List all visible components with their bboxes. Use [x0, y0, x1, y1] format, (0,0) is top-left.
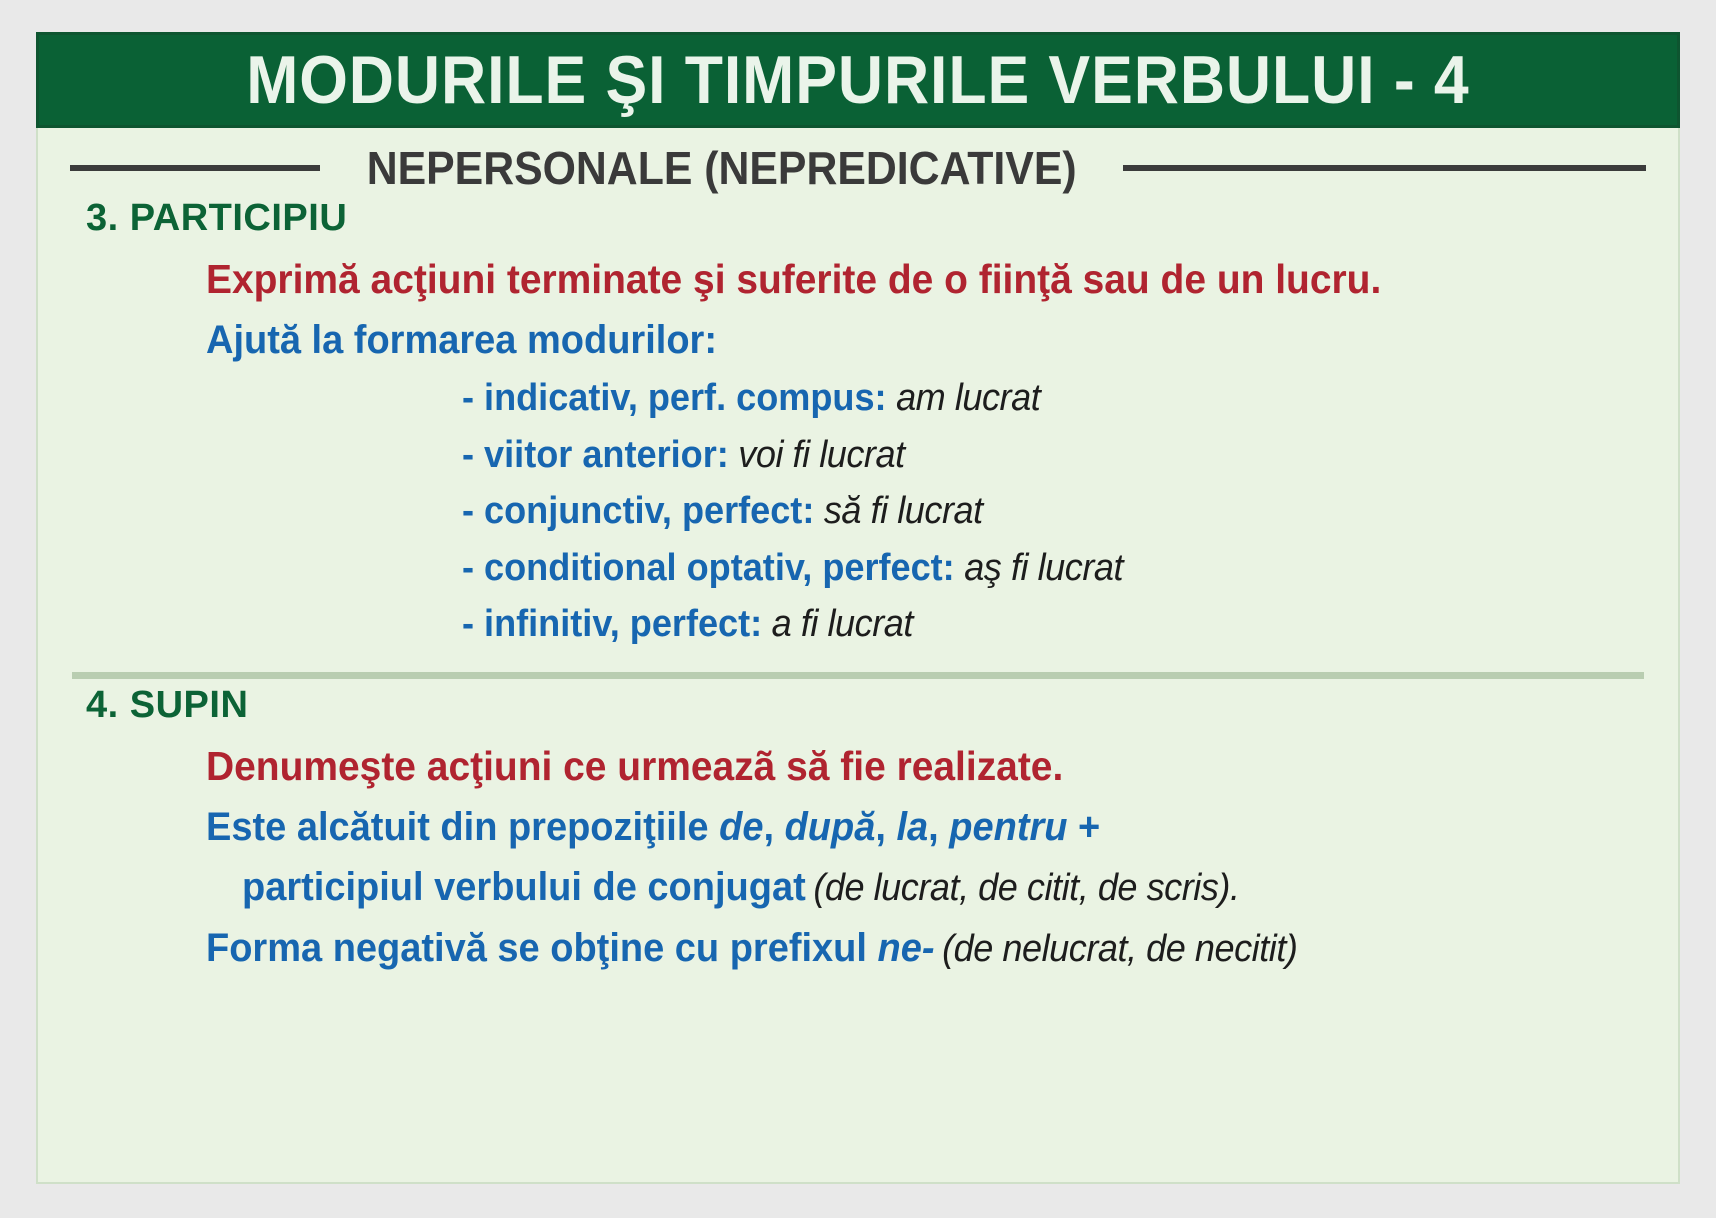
- subtitle-rule-left: [70, 165, 320, 171]
- supin-composition: Este alcătuit din prepoziţiile de, după,…: [206, 804, 1580, 850]
- bullet-example-conditional-optativ: aş fi lucrat: [955, 547, 1123, 589]
- preposition-dupa: după: [785, 805, 876, 849]
- supin-negative-examples: (de nelucrat, de necitit): [935, 928, 1298, 970]
- prefix-ne: ne-: [878, 926, 935, 970]
- page-title: MODURILE ŞI TIMPURILE VERBULUI - 4: [246, 46, 1469, 114]
- subtitle-row: NEPERSONALE (NEPREDICATIVE): [64, 144, 1652, 192]
- poster-body: NEPERSONALE (NEPREDICATIVE) 3. PARTICIPI…: [36, 128, 1680, 1184]
- participiu-definition: Exprimă acţiuni terminate şi suferite de…: [206, 256, 1580, 303]
- list-item: - conjunctiv, perfect:să fi lucrat: [462, 490, 1593, 533]
- section-heading-supin: 4. SUPIN: [86, 685, 1652, 727]
- bullet-example-conjunctiv: să fi lucrat: [814, 490, 982, 532]
- subtitle-rule-right: [1123, 165, 1646, 171]
- supin-definition: Denumeşte acţiuni ce urmeazã să fie real…: [206, 743, 1580, 790]
- bullet-label-infinitiv: - infinitiv, perfect:: [462, 603, 762, 645]
- preposition-de: de: [719, 805, 763, 849]
- preposition-la: la: [896, 805, 928, 849]
- bullet-example-indicativ: am lucrat: [887, 377, 1041, 419]
- list-item: - indicativ, perf. compus:am lucrat: [462, 377, 1593, 420]
- supin-participle-text: participiul verbului de conjugat: [242, 865, 806, 909]
- supin-participle-examples: (de lucrat, de citit, de scris).: [806, 867, 1240, 909]
- poster-page: MODURILE ŞI TIMPURILE VERBULUI - 4 NEPER…: [0, 0, 1716, 1218]
- bullet-label-conditional-optativ: - conditional optativ, perfect:: [462, 547, 955, 589]
- section-supin: 4. SUPIN Denumeşte acţiuni ce urmeazã să…: [64, 685, 1652, 971]
- subtitle-text: NEPERSONALE (NEPREDICATIVE): [367, 144, 1077, 192]
- poster-card: MODURILE ŞI TIMPURILE VERBULUI - 4 NEPER…: [36, 32, 1680, 1184]
- supin-participle-line: participiul verbului de conjugat(de lucr…: [242, 864, 1582, 911]
- list-item: - conditional optativ, perfect:aş fi luc…: [462, 547, 1593, 590]
- separator: ,: [763, 805, 784, 849]
- section-heading-participiu: 3. PARTICIPIU: [86, 198, 1652, 240]
- bullet-example-infinitiv: a fi lucrat: [762, 603, 913, 645]
- supin-negative-line: Forma negativă se obţine cu prefixul ne-…: [206, 925, 1580, 972]
- separator: ,: [875, 805, 896, 849]
- bullet-label-indicativ: - indicativ, perf. compus:: [462, 377, 887, 419]
- header-bar: MODURILE ŞI TIMPURILE VERBULUI - 4: [36, 32, 1680, 128]
- preposition-pentru: pentru: [949, 805, 1067, 849]
- bullet-label-viitor-anterior: - viitor anterior:: [462, 434, 729, 476]
- plus-sign: +: [1068, 805, 1101, 849]
- supin-negative-text: Forma negativă se obţine cu prefixul: [206, 926, 878, 970]
- supin-composition-lead: Este alcătuit din prepoziţiile: [206, 805, 719, 849]
- separator: ,: [928, 805, 949, 849]
- list-item: - infinitiv, perfect:a fi lucrat: [462, 603, 1593, 646]
- list-item: - viitor anterior:voi fi lucrat: [462, 434, 1593, 477]
- bullet-example-viitor-anterior: voi fi lucrat: [729, 434, 905, 476]
- bullet-label-conjunctiv: - conjunctiv, perfect:: [462, 490, 814, 532]
- section-divider: [72, 672, 1644, 679]
- section-participiu: 3. PARTICIPIU Exprimă acţiuni terminate …: [64, 198, 1652, 646]
- participiu-lead: Ajută la formarea modurilor:: [206, 317, 1580, 363]
